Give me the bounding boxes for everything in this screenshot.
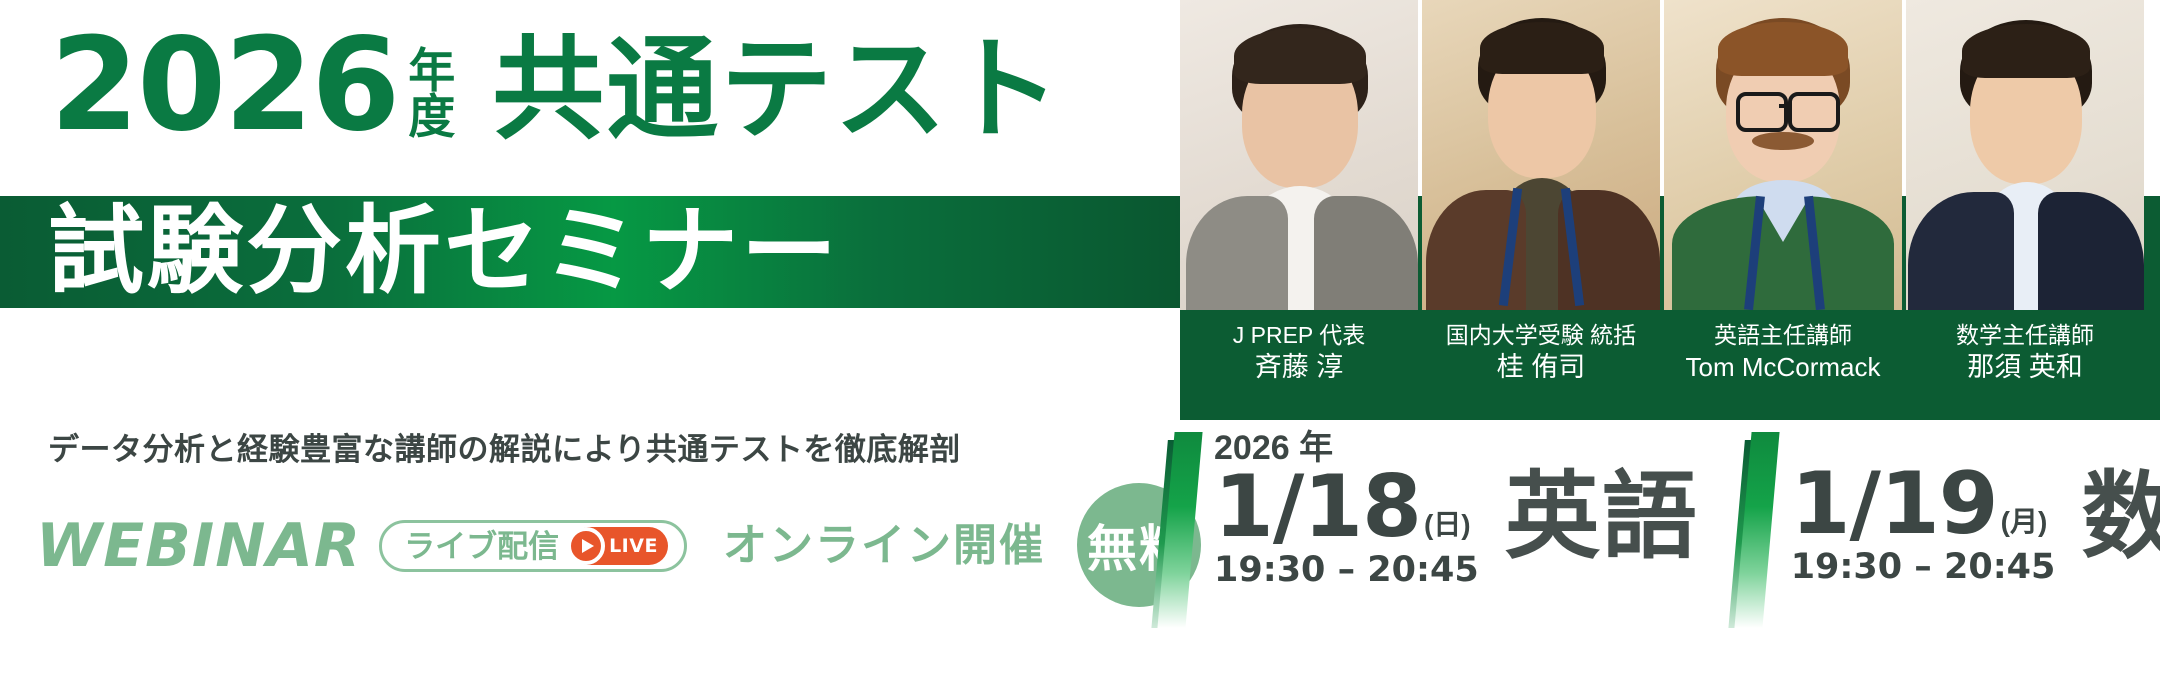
- speaker-role: J PREP 代表: [1180, 322, 1418, 349]
- speaker-role: 国内大学受験 統括: [1422, 322, 1660, 349]
- session-time: 19:30 – 20:45: [1214, 551, 1479, 590]
- headline-nendo-line2: 度: [408, 94, 456, 140]
- live-streaming-label: ライブ配信: [404, 531, 559, 562]
- speaker-caption: 英語主任講師 Tom McCormack: [1664, 312, 1902, 418]
- live-chip: LIVE: [569, 527, 668, 565]
- headline-exam-name: 共通テスト: [492, 34, 1062, 146]
- speaker-photo: [1664, 0, 1902, 310]
- session-weekday: (月): [2001, 508, 2048, 536]
- seminar-banner: 2026 年 度 共通テスト 試験分析セミナー データ分析と経験豊富な講師の解説…: [0, 0, 2160, 680]
- speaker-name: Tom McCormack: [1664, 352, 1902, 383]
- headline-column: 2026 年 度 共通テスト 試験分析セミナー データ分析と経験豊富な講師の解説…: [0, 0, 1180, 680]
- speaker-photo: [1180, 0, 1418, 310]
- online-event-label: オンライン開催: [723, 524, 1045, 568]
- session-date-block: 1/19 (月) 19:30 – 20:45: [1791, 464, 2056, 586]
- session-date: 1/19: [1791, 464, 1998, 546]
- headline-top-line: 2026 年 度 共通テスト: [50, 22, 1062, 150]
- speaker-photo: [1906, 0, 2144, 310]
- session-day-row: 1/18 (日): [1214, 467, 1479, 549]
- speaker-role: 英語主任講師: [1664, 322, 1902, 349]
- play-icon: [567, 527, 605, 565]
- banner-subtitle: データ分析と経験豊富な講師の解説により共通テストを徹底解剖: [48, 424, 961, 469]
- speaker-caption: J PREP 代表 斉藤 淳: [1180, 312, 1418, 418]
- speaker-name: 桂 侑司: [1422, 352, 1660, 384]
- session-day-row: 1/19 (月): [1791, 464, 2056, 546]
- session-date-block: 2026 年 1/18 (日) 19:30 – 20:45: [1214, 430, 1479, 590]
- webinar-row: WEBINAR ライブ配信 LIVE オンライン開催 無料: [36, 485, 1201, 607]
- session-item: 2026 年 1/18 (日) 19:30 – 20:45 英語: [1160, 424, 1699, 664]
- glasses-icon: [1736, 92, 1788, 132]
- speaker-photo: [1422, 0, 1660, 310]
- speaker-caption: 国内大学受験 統括 桂 侑司: [1422, 312, 1660, 418]
- speaker-role: 数学主任講師: [1906, 322, 2144, 349]
- speaker-photo-strip: [1180, 0, 2160, 310]
- speakers-section: J PREP 代表 斉藤 淳 国内大学受験 統括 桂 侑司 英語主任講師 Tom…: [1180, 0, 2160, 420]
- headline-nendo-line1: 年: [408, 48, 456, 94]
- title-green-band: 試験分析セミナー: [0, 196, 1180, 308]
- session-subject: 数学: [2081, 470, 2160, 565]
- session-time: 19:30 – 20:45: [1791, 548, 2056, 587]
- live-chip-text: LIVE: [609, 537, 658, 556]
- session-item: 1/19 (月) 19:30 – 20:45 数学: [1737, 424, 2160, 664]
- speaker-name: 斉藤 淳: [1180, 352, 1418, 384]
- session-list: 2026 年 1/18 (日) 19:30 – 20:45 英語 1/19 (月…: [1160, 424, 2160, 664]
- headline-year-number: 2026: [50, 22, 398, 150]
- speaker-name: 那須 英和: [1906, 352, 2144, 384]
- headline-nendo: 年 度: [408, 48, 456, 140]
- session-accent-bar: [1728, 432, 1779, 628]
- session-accent-bar: [1151, 432, 1202, 628]
- live-streaming-badge: ライブ配信 LIVE: [379, 520, 687, 572]
- session-weekday: (日): [1424, 511, 1471, 539]
- session-date: 1/18: [1214, 467, 1421, 549]
- session-subject: 英語: [1505, 470, 1699, 565]
- banner-main-title: 試験分析セミナー: [48, 204, 840, 300]
- speaker-captions: J PREP 代表 斉藤 淳 国内大学受験 統括 桂 侑司 英語主任講師 Tom…: [1180, 312, 2160, 418]
- speaker-caption: 数学主任講師 那須 英和: [1906, 312, 2144, 418]
- glasses-icon: [1788, 92, 1840, 132]
- webinar-label: WEBINAR: [36, 516, 361, 576]
